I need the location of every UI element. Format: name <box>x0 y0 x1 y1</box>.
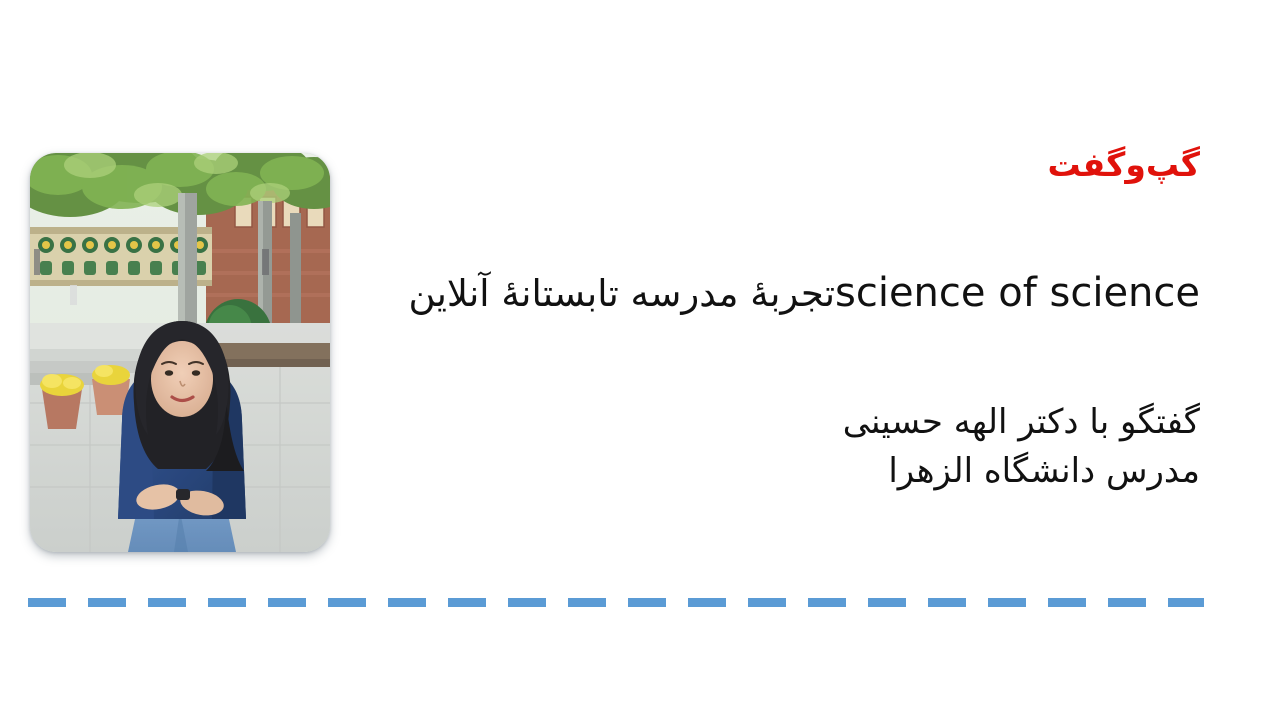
subtitle-persian-lead: تجربهٔ مدرسه تابستانهٔ آنلاین <box>408 272 835 315</box>
speaker-photo-clip <box>30 153 330 552</box>
speaker-name-line: گفتگو با دکتر الهه حسینی <box>400 398 1200 447</box>
speaker-affiliation-line: مدرس دانشگاه الزهرا <box>400 447 1200 496</box>
subtitle-latin-term: science of science <box>835 270 1200 316</box>
dashed-divider <box>28 598 1204 607</box>
subtitle-line: science of scienceتجربهٔ مدرسه تابستانهٔ… <box>400 268 1200 318</box>
speaker-block: گفتگو با دکتر الهه حسینی مدرس دانشگاه ال… <box>400 398 1200 497</box>
speaker-photo-illustration <box>30 153 330 552</box>
kicker-title: گپ‌وگفت <box>400 146 1200 184</box>
speaker-photo <box>30 153 330 552</box>
slide-text-column: گپ‌وگفت science of scienceتجربهٔ مدرسه ت… <box>400 146 1200 184</box>
slide-canvas: گپ‌وگفت science of scienceتجربهٔ مدرسه ت… <box>0 0 1278 724</box>
